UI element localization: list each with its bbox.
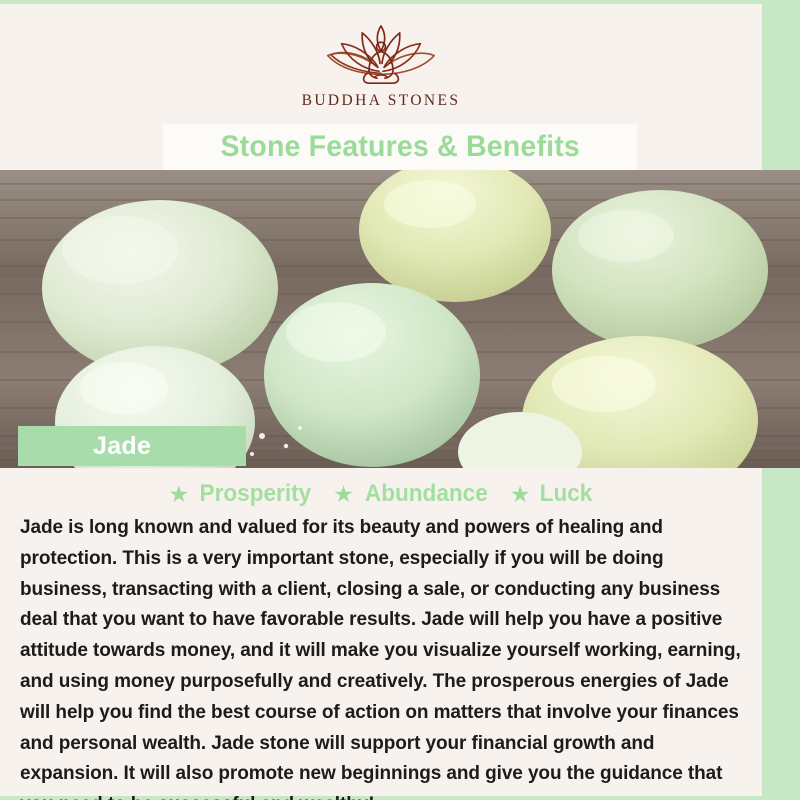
infographic-page: BUDDHA STONES Stone Features & Benefits xyxy=(0,0,800,800)
benefit-item-luck: ★ Luck xyxy=(510,480,594,508)
title-banner: Stone Features & Benefits xyxy=(163,124,637,170)
stone-name: Jade xyxy=(93,432,151,461)
benefit-label: Abundance xyxy=(365,480,488,508)
benefit-item-prosperity: ★ Prosperity xyxy=(168,480,315,508)
stone-description: Jade is long known and valued for its be… xyxy=(20,512,742,800)
star-icon: ★ xyxy=(510,484,531,505)
benefit-item-abundance: ★ Abundance xyxy=(333,480,492,508)
lotus-meditation-icon xyxy=(307,22,455,86)
star-icon: ★ xyxy=(168,484,189,505)
stone-photo xyxy=(0,170,800,468)
benefit-label: Luck xyxy=(539,480,592,508)
brand-name: BUDDHA STONES xyxy=(302,92,461,110)
brand-logo-block: BUDDHA STONES xyxy=(0,8,762,120)
star-icon: ★ xyxy=(333,484,354,505)
page-title: Stone Features & Benefits xyxy=(220,130,580,164)
benefit-label: Prosperity xyxy=(200,480,312,508)
stone-name-band: Jade xyxy=(18,426,246,466)
benefits-row: ★ Prosperity ★ Abundance ★ Luck xyxy=(0,478,762,510)
